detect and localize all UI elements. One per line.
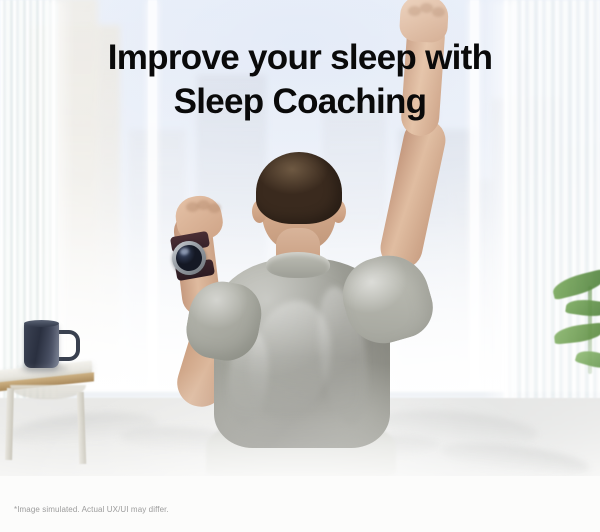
knuckle	[432, 7, 445, 17]
tshirt-collar	[266, 252, 330, 278]
hair	[256, 152, 342, 224]
disclaimer-text: *Image simulated. Actual UX/UI may diffe…	[14, 505, 169, 514]
sleep-coaching-banner: Improve your sleep with Sleep Coaching *…	[0, 0, 600, 532]
right-arm-upper	[377, 115, 450, 272]
person-stretching	[0, 0, 600, 532]
background-photo	[0, 0, 600, 532]
footer-bar: *Image simulated. Actual UX/UI may diffe…	[0, 476, 600, 532]
knuckle	[208, 203, 221, 213]
